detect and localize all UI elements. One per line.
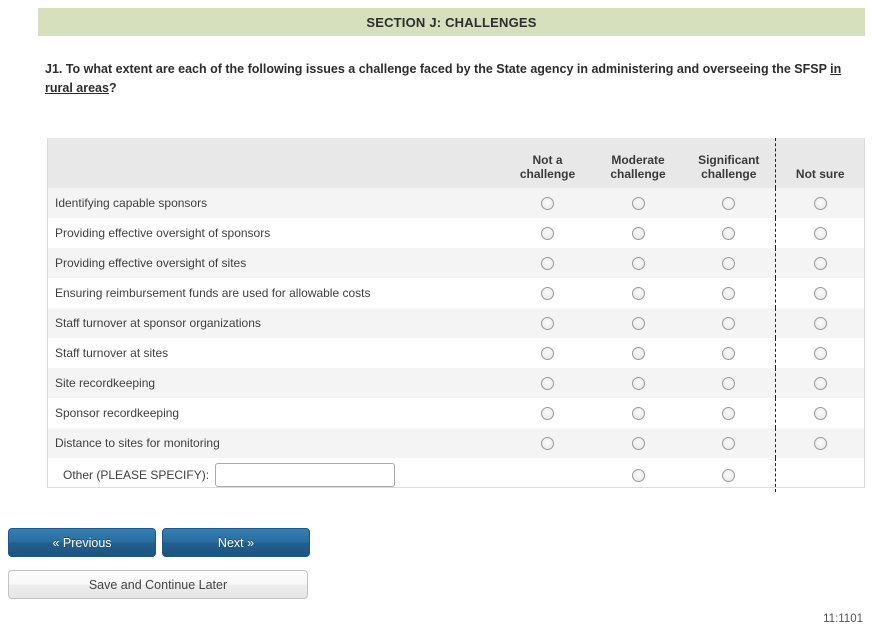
radio-cell-not-a-challenge xyxy=(502,428,593,458)
table-row-other: Other (PLEASE SPECIFY): xyxy=(47,458,865,492)
other-row-cell: Other (PLEASE SPECIFY): xyxy=(47,458,502,492)
row-label: Staff turnover at sponsor organizations xyxy=(47,308,502,338)
row-label: Site recordkeeping xyxy=(47,368,502,398)
radio-cell-moderate-challenge xyxy=(593,188,683,218)
radio-not-sure[interactable] xyxy=(814,227,827,240)
column-header-line2: challenge xyxy=(610,167,665,181)
grid-header: Not a challenge Moderate challenge Signi… xyxy=(47,138,865,188)
radio-not-a-challenge[interactable] xyxy=(541,227,554,240)
radio-cell-significant-challenge xyxy=(683,338,775,368)
table-row: Ensuring reimbursement funds are used fo… xyxy=(47,278,865,308)
radio-significant-challenge[interactable] xyxy=(722,377,735,390)
radio-not-sure[interactable] xyxy=(814,437,827,450)
navigation-buttons: « Previous Next » xyxy=(8,528,310,557)
radio-not-a-challenge[interactable] xyxy=(541,347,554,360)
row-label: Identifying capable sponsors xyxy=(47,188,502,218)
radio-cell-not-a-challenge xyxy=(502,368,593,398)
row-label: Providing effective oversight of sponsor… xyxy=(47,218,502,248)
challenges-grid: Not a challenge Moderate challenge Signi… xyxy=(47,138,865,492)
column-header-not-sure: Not sure xyxy=(775,138,865,188)
table-row: Staff turnover at sites xyxy=(47,338,865,368)
table-row: Providing effective oversight of sites xyxy=(47,248,865,278)
radio-significant-challenge[interactable] xyxy=(722,227,735,240)
radio-moderate-challenge[interactable] xyxy=(632,227,645,240)
column-header-not-a-challenge: Not a challenge xyxy=(502,138,593,188)
radio-significant-challenge[interactable] xyxy=(722,407,735,420)
radio-cell-not-sure xyxy=(775,188,865,218)
row-label: Staff turnover at sites xyxy=(47,338,502,368)
column-header-line1: Moderate xyxy=(611,153,664,167)
radio-cell-moderate-challenge xyxy=(593,398,683,428)
radio-cell-moderate-challenge xyxy=(593,248,683,278)
radio-not-sure[interactable] xyxy=(814,197,827,210)
column-header-line2: Not sure xyxy=(796,167,845,181)
radio-cell-significant-challenge xyxy=(683,428,775,458)
grid-body: Identifying capable sponsorsProviding ef… xyxy=(47,188,865,492)
radio-cell-moderate-challenge xyxy=(593,368,683,398)
table-row: Sponsor recordkeeping xyxy=(47,398,865,428)
question-text-after: ? xyxy=(109,81,117,95)
radio-cell-moderate-challenge xyxy=(593,428,683,458)
radio-not-a-challenge[interactable] xyxy=(541,317,554,330)
other-row-label: Other (PLEASE SPECIFY): xyxy=(63,468,209,482)
radio-cell-other-moderate-challenge xyxy=(593,458,683,492)
radio-moderate-challenge[interactable] xyxy=(632,197,645,210)
column-header-significant-challenge: Significant challenge xyxy=(683,138,775,188)
radio-cell-not-a-challenge xyxy=(502,188,593,218)
radio-cell-not-sure xyxy=(775,398,865,428)
radio-cell-significant-challenge xyxy=(683,218,775,248)
radio-not-sure[interactable] xyxy=(814,407,827,420)
radio-moderate-challenge[interactable] xyxy=(632,377,645,390)
radio-significant-challenge[interactable] xyxy=(722,257,735,270)
column-header-moderate-challenge: Moderate challenge xyxy=(593,138,683,188)
radio-moderate-challenge[interactable] xyxy=(632,407,645,420)
section-title: SECTION J: CHALLENGES xyxy=(366,15,536,30)
radio-moderate-challenge[interactable] xyxy=(632,347,645,360)
radio-cell-not-a-challenge xyxy=(502,338,593,368)
other-specify-input[interactable] xyxy=(215,463,395,487)
radio-cell-significant-challenge xyxy=(683,368,775,398)
row-label: Sponsor recordkeeping xyxy=(47,398,502,428)
row-label: Providing effective oversight of sites xyxy=(47,248,502,278)
radio-cell-significant-challenge xyxy=(683,278,775,308)
column-header-line2: challenge xyxy=(701,167,756,181)
radio-not-a-challenge[interactable] xyxy=(541,437,554,450)
radio-cell-not-a-challenge xyxy=(502,308,593,338)
table-row: Site recordkeeping xyxy=(47,368,865,398)
radio-cell-moderate-challenge xyxy=(593,308,683,338)
radio-cell-other-not-sure xyxy=(775,458,865,492)
radio-moderate-challenge[interactable] xyxy=(632,317,645,330)
radio-cell-not-sure xyxy=(775,278,865,308)
page-identifier: 11:1101 xyxy=(823,613,863,625)
radio-not-sure[interactable] xyxy=(814,287,827,300)
table-row: Staff turnover at sponsor organizations xyxy=(47,308,865,338)
radio-other-moderate-challenge[interactable] xyxy=(632,469,645,482)
radio-cell-not-sure xyxy=(775,308,865,338)
radio-cell-not-sure xyxy=(775,338,865,368)
section-header-band: SECTION J: CHALLENGES xyxy=(38,8,865,36)
radio-moderate-challenge[interactable] xyxy=(632,437,645,450)
previous-button[interactable]: « Previous xyxy=(8,528,156,557)
next-button[interactable]: Next » xyxy=(162,528,310,557)
radio-other-significant-challenge[interactable] xyxy=(722,469,735,482)
question-text-before: J1. To what extent are each of the follo… xyxy=(45,62,830,76)
radio-not-a-challenge[interactable] xyxy=(541,257,554,270)
radio-cell-not-a-challenge xyxy=(502,218,593,248)
radio-cell-moderate-challenge xyxy=(593,278,683,308)
column-header-line2: challenge xyxy=(520,167,575,181)
column-header-line1: Significant xyxy=(698,153,759,167)
radio-significant-challenge[interactable] xyxy=(722,197,735,210)
radio-moderate-challenge[interactable] xyxy=(632,257,645,270)
grid-header-row: Not a challenge Moderate challenge Signi… xyxy=(47,138,865,188)
radio-not-sure[interactable] xyxy=(814,377,827,390)
column-header-line1: Not a xyxy=(533,153,563,167)
row-label: Distance to sites for monitoring xyxy=(47,428,502,458)
question-prompt: J1. To what extent are each of the follo… xyxy=(45,60,845,98)
radio-cell-not-sure xyxy=(775,218,865,248)
radio-not-sure[interactable] xyxy=(814,317,827,330)
radio-cell-significant-challenge xyxy=(683,248,775,278)
radio-significant-challenge[interactable] xyxy=(722,287,735,300)
row-label: Ensuring reimbursement funds are used fo… xyxy=(47,278,502,308)
radio-cell-other-not-a-challenge xyxy=(502,458,593,492)
radio-cell-significant-challenge xyxy=(683,398,775,428)
radio-moderate-challenge[interactable] xyxy=(632,287,645,300)
radio-cell-moderate-challenge xyxy=(593,218,683,248)
radio-not-a-challenge[interactable] xyxy=(541,287,554,300)
table-row: Providing effective oversight of sponsor… xyxy=(47,218,865,248)
radio-cell-not-a-challenge xyxy=(502,398,593,428)
radio-significant-challenge[interactable] xyxy=(722,317,735,330)
radio-cell-not-a-challenge xyxy=(502,248,593,278)
table-row: Identifying capable sponsors xyxy=(47,188,865,218)
radio-cell-significant-challenge xyxy=(683,188,775,218)
save-and-continue-later-button[interactable]: Save and Continue Later xyxy=(8,570,308,599)
column-header-label xyxy=(47,138,502,188)
radio-not-a-challenge[interactable] xyxy=(541,377,554,390)
radio-cell-not-sure xyxy=(775,368,865,398)
radio-cell-not-sure xyxy=(775,428,865,458)
radio-significant-challenge[interactable] xyxy=(722,347,735,360)
table-row: Distance to sites for monitoring xyxy=(47,428,865,458)
radio-cell-not-sure xyxy=(775,248,865,278)
radio-significant-challenge[interactable] xyxy=(722,437,735,450)
radio-cell-moderate-challenge xyxy=(593,338,683,368)
radio-cell-not-a-challenge xyxy=(502,278,593,308)
radio-not-a-challenge[interactable] xyxy=(541,407,554,420)
radio-not-sure[interactable] xyxy=(814,347,827,360)
radio-cell-significant-challenge xyxy=(683,308,775,338)
radio-not-a-challenge[interactable] xyxy=(541,197,554,210)
radio-not-sure[interactable] xyxy=(814,257,827,270)
radio-cell-other-significant-challenge xyxy=(683,458,775,492)
